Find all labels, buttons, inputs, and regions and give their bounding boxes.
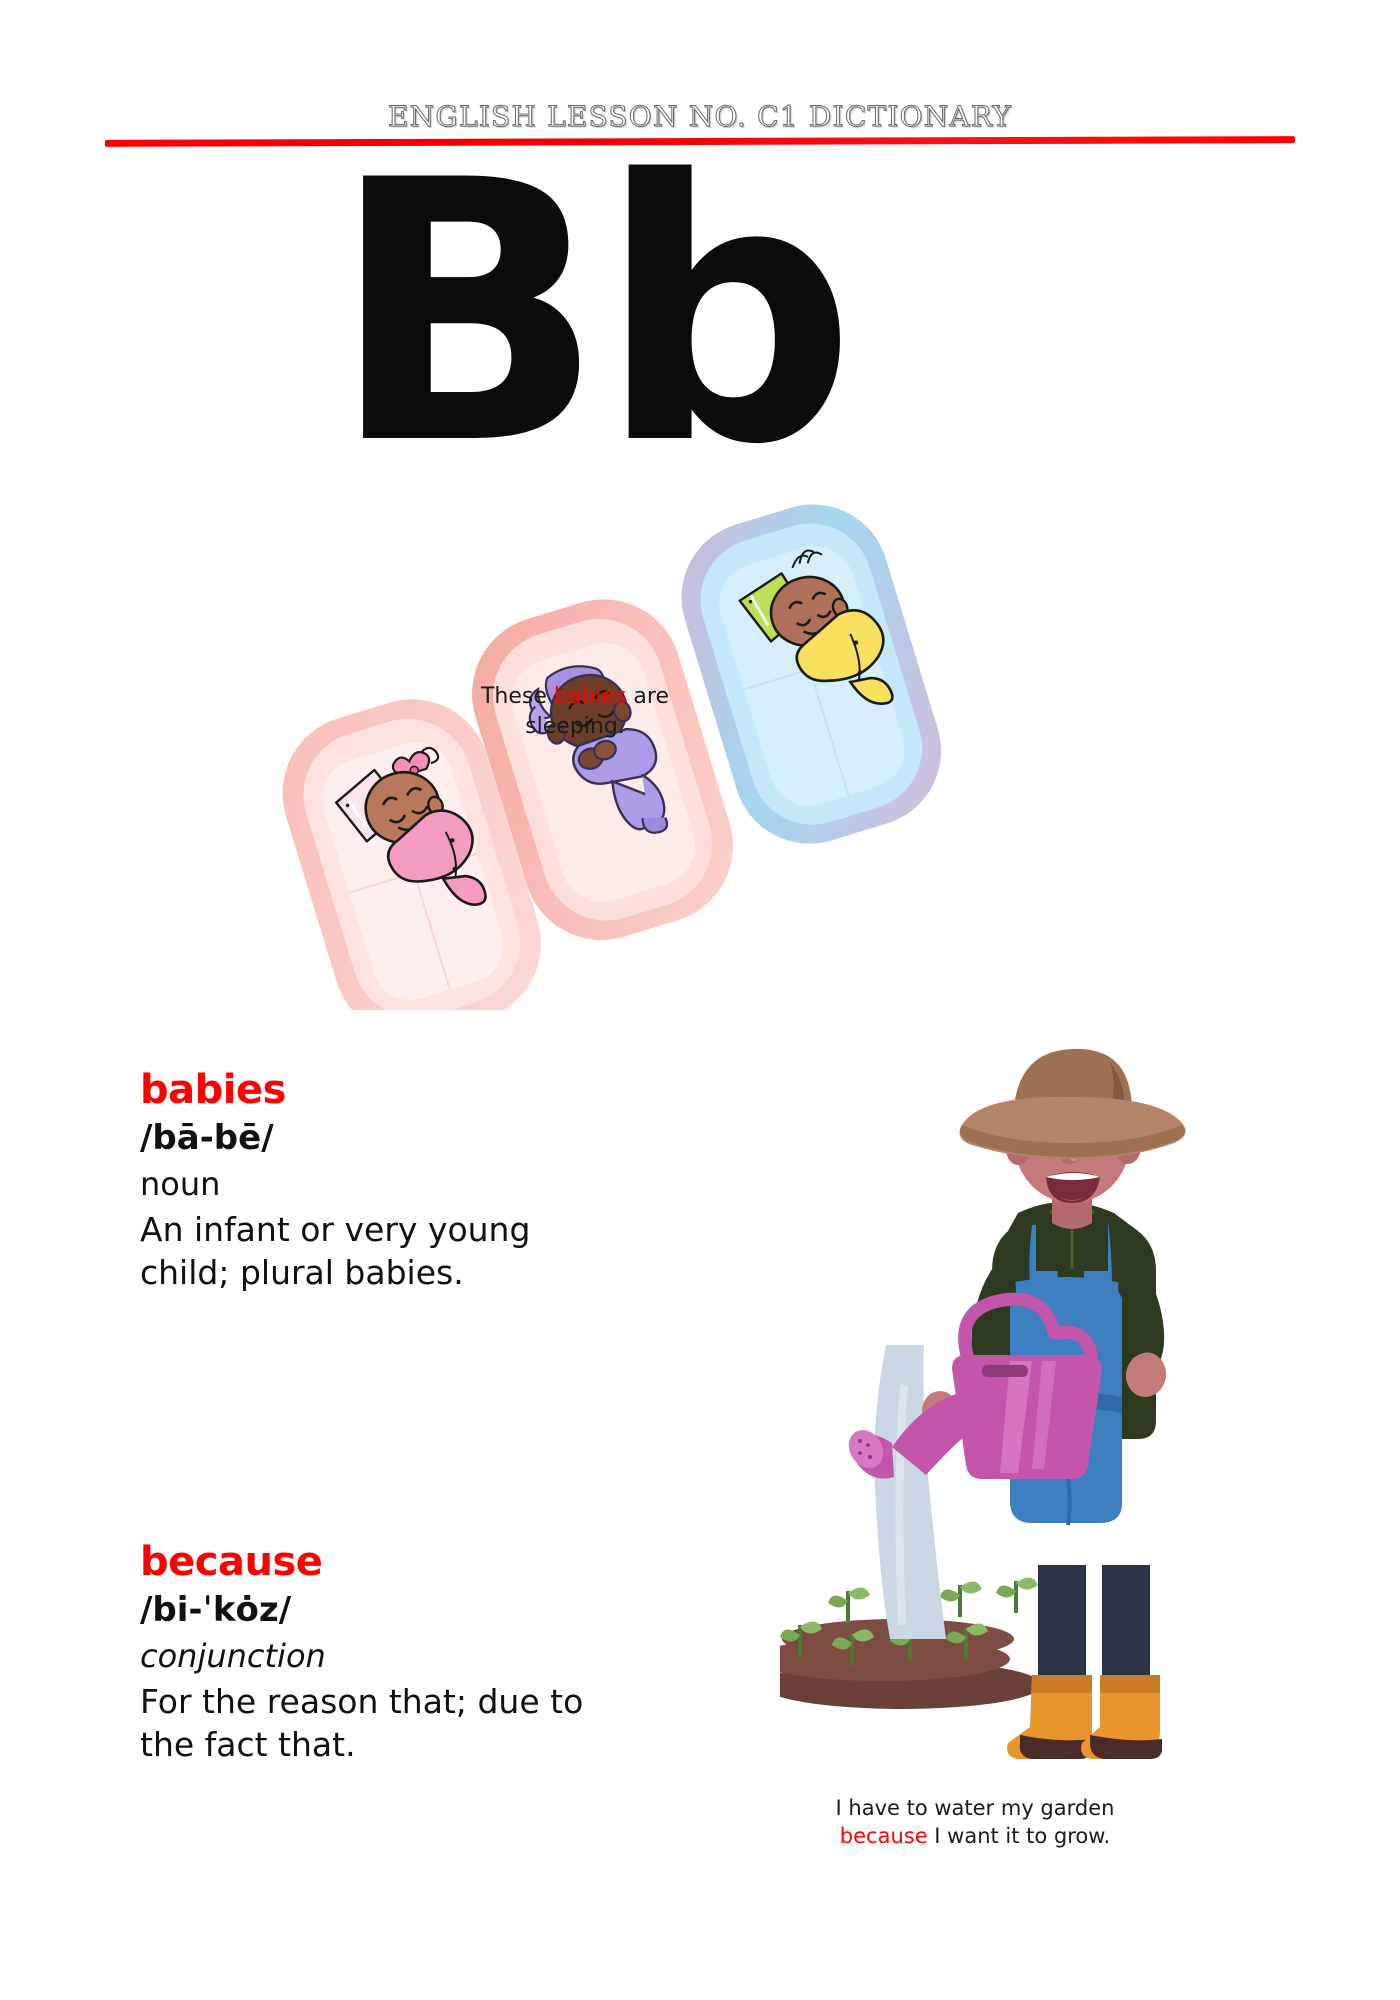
caption-because: I have to water my garden because I want…: [790, 1794, 1160, 1851]
caption-because-before: I have to water my garden: [836, 1796, 1115, 1820]
entry-part-of-speech: noun: [140, 1164, 680, 1206]
dictionary-entry-babies: babies /bā-bē/ noun An infant or very yo…: [140, 1068, 680, 1295]
entry-word: babies: [140, 1068, 680, 1112]
babies-illustration: [280, 500, 1020, 1010]
farmer-head: [960, 1049, 1186, 1203]
entry-pronunciation: /bi-ˈkȯz/: [140, 1588, 680, 1634]
caption-because-after: I want it to grow.: [928, 1824, 1111, 1848]
worksheet-page: ENGLISH LESSON NO. C1 DICTIONARY Bb: [0, 0, 1400, 2000]
caption-babies: These babies are sleeping.: [455, 682, 695, 741]
caption-babies-before: These: [481, 684, 554, 709]
big-letter-heading: Bb: [330, 145, 850, 483]
entry-pronunciation: /bā-bē/: [140, 1116, 680, 1162]
entry-definition: For the reason that; due to the fact tha…: [140, 1681, 610, 1767]
entry-definition: An infant or very young child; plural ba…: [140, 1209, 610, 1295]
entry-word: because: [140, 1540, 680, 1584]
caption-babies-highlight: babies: [554, 684, 627, 709]
dictionary-entry-because: because /bi-ˈkȯz/ conjunction For the re…: [140, 1540, 680, 1767]
caption-because-highlight: because: [840, 1824, 928, 1848]
entry-part-of-speech: conjunction: [140, 1636, 680, 1678]
farmer-illustration: [780, 1045, 1240, 1805]
water-stream: [874, 1345, 946, 1639]
